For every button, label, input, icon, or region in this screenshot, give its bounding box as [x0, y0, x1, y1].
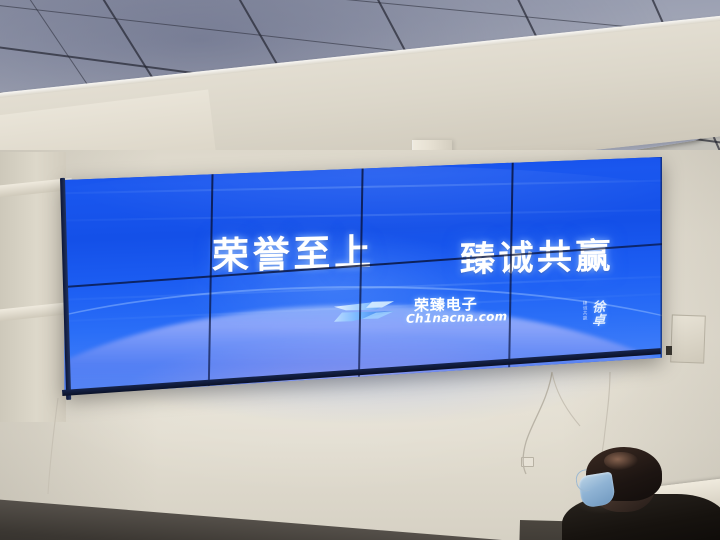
left-cable	[28, 398, 88, 518]
photo-scene: 荣誉至上 臻诚共赢	[0, 0, 720, 540]
slogan-left: 荣誉至上	[212, 222, 375, 280]
slogan-right: 臻诚共赢	[460, 228, 614, 283]
signature-name: 徐卓	[590, 300, 603, 327]
person-scalp-highlight	[604, 452, 638, 470]
screen-signature-watermark: 臻诚共赢 徐卓	[582, 300, 603, 327]
wall-box-latch	[666, 346, 672, 355]
wall-utility-box	[670, 314, 706, 363]
chevron-swoosh-logo-icon	[332, 296, 406, 328]
company-logo-lockup: 荣臻电子 Ch1nacna.com	[332, 291, 552, 337]
seated-person	[556, 448, 720, 540]
logo-website-url: Ch1nacna.com	[406, 309, 507, 326]
signature-small-text: 臻诚共赢	[582, 300, 587, 320]
